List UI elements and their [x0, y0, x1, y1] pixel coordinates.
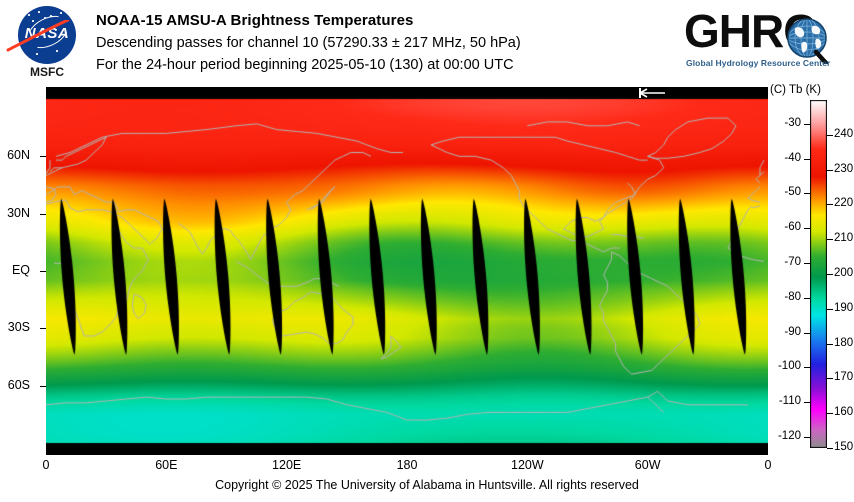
colorbar-kelvin-label-6: 180 [834, 337, 853, 349]
colorbar-tick-celsius [804, 367, 810, 368]
colorbar-kelvin-label-4: 200 [834, 267, 853, 279]
colorbar-kelvin-label-9: 150 [834, 441, 853, 453]
colorbar-header: (C) Tb (K) [770, 84, 854, 96]
colorbar-kelvin-label-0: 240 [834, 128, 853, 140]
latitude-tick [40, 386, 46, 387]
colorbar-gradient [810, 100, 827, 448]
colorbar-tick-kelvin [827, 135, 833, 136]
colorbar-tick-celsius [804, 193, 810, 194]
figure-subtitle-period: For the 24-hour period beginning 2025-05… [96, 54, 656, 76]
colorbar-celsius-label-8: -110 [770, 395, 801, 407]
colorbar-tick-kelvin [827, 309, 833, 310]
page-title: NOAA-15 AMSU-A Brightness Temperatures [96, 10, 656, 32]
colorbar-kelvin-label-3: 210 [834, 232, 853, 244]
colorbar-tick-celsius [804, 402, 810, 403]
longitude-label-4: 120W [497, 458, 557, 472]
colorbar-tick-kelvin [827, 413, 833, 414]
colorbar-tick-celsius [804, 228, 810, 229]
colorbar-celsius-label-0: -30 [770, 117, 801, 129]
colorbar-tick-celsius [804, 437, 810, 438]
colorbar-tick-kelvin [827, 448, 833, 449]
colorbar-tick-celsius [804, 159, 810, 160]
colorbar-kelvin-label-5: 190 [834, 302, 853, 314]
colorbar-kelvin-label-1: 230 [834, 163, 853, 175]
colorbar-celsius-label-5: -80 [770, 291, 801, 303]
colorbar-tick-kelvin [827, 204, 833, 205]
colorbar-tick-celsius [804, 263, 810, 264]
descending-node-marker-icon [638, 87, 668, 99]
colorbar-tick-kelvin [827, 378, 833, 379]
colorbar-tick-celsius [804, 298, 810, 299]
colorbar-kelvin-label-8: 160 [834, 406, 853, 418]
nasa-swoosh-icon [6, 20, 76, 52]
longitude-label-1: 60E [136, 458, 196, 472]
figure-title-block: NOAA-15 AMSU-A Brightness Temperatures D… [96, 10, 656, 76]
ghrc-logo: GHRC Global Hydrology Re [684, 8, 850, 78]
colorbar-kelvin-label-7: 170 [834, 371, 853, 383]
figure-root: NASA MSFC NOAA-15 AMSU-A Brightness Temp… [0, 0, 854, 502]
colorbar-tick-celsius [804, 333, 810, 334]
ghrc-subtitle: Global Hydrology Resource Center [686, 58, 850, 68]
colorbar-tick-kelvin [827, 274, 833, 275]
colorbar-celsius-label-1: -40 [770, 152, 801, 164]
longitude-label-6: 0 [738, 458, 798, 472]
latitude-tick [40, 328, 46, 329]
nasa-logo: NASA MSFC [10, 6, 84, 84]
colorbar-tick-celsius [804, 124, 810, 125]
latitude-tick [40, 214, 46, 215]
latitude-tick [40, 156, 46, 157]
colorbar-celsius-label-3: -60 [770, 221, 801, 233]
copyright-notice: Copyright © 2025 The University of Alaba… [0, 478, 854, 492]
map-plot-area [46, 87, 768, 455]
brightness-temperature-map [46, 87, 768, 455]
colorbar-tick-kelvin [827, 239, 833, 240]
colorbar-kelvin-label-2: 220 [834, 197, 853, 209]
longitude-label-0: 0 [16, 458, 76, 472]
longitude-label-3: 180 [377, 458, 437, 472]
colorbar-celsius-label-2: -50 [770, 186, 801, 198]
globe-icon [783, 16, 831, 64]
colorbar-celsius-label-6: -90 [770, 326, 801, 338]
longitude-label-5: 60W [618, 458, 678, 472]
colorbar-tick-kelvin [827, 170, 833, 171]
colorbar: (C) Tb (K) 24023022021020019018017016015… [770, 84, 854, 456]
latitude-axis-ticks [0, 87, 46, 455]
nasa-center-label: MSFC [10, 65, 84, 79]
figure-subtitle-channel: Descending passes for channel 10 (57290.… [96, 32, 656, 54]
colorbar-celsius-label-4: -70 [770, 256, 801, 268]
colorbar-celsius-label-7: -100 [770, 360, 801, 372]
longitude-label-2: 120E [257, 458, 317, 472]
latitude-tick [40, 271, 46, 272]
colorbar-tick-kelvin [827, 344, 833, 345]
longitude-axis-labels: 060E120E180120W60W0 [46, 458, 768, 476]
colorbar-celsius-label-9: -120 [770, 430, 801, 442]
